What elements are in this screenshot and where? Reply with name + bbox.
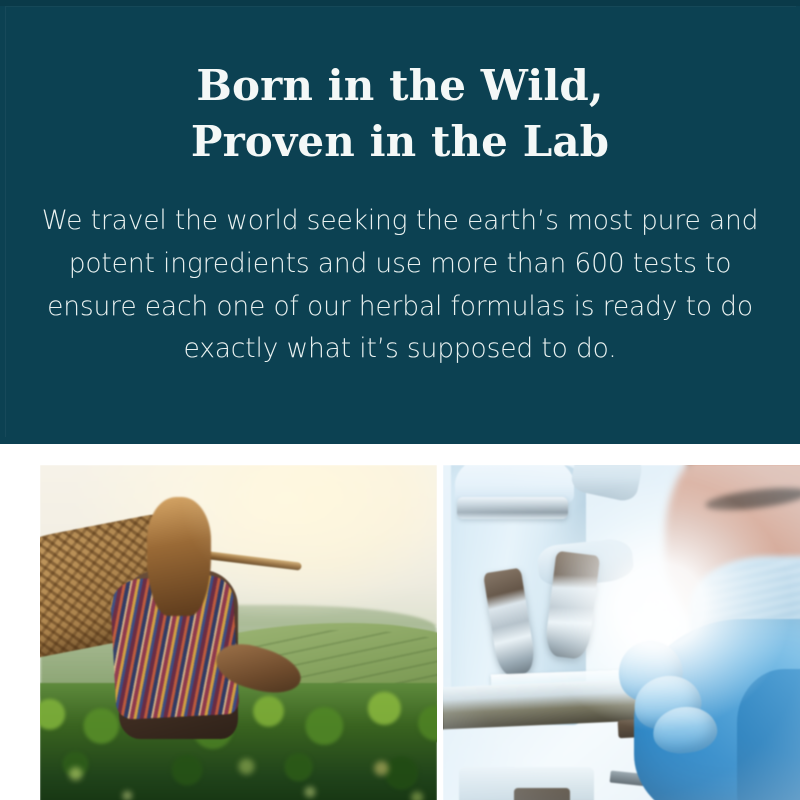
body-line-4: exactly what it’s supposed to do.	[39, 328, 761, 371]
body-line-2: potent ingredients and use more than 600…	[39, 243, 761, 286]
microscope-base-shadow	[514, 788, 570, 800]
harvester-hair	[147, 497, 211, 616]
foreground-bokeh	[40, 732, 437, 800]
headline-line-1: Born in the Wild,	[50, 58, 750, 114]
brand-promo-poster: Born in the Wild, Proven in the Lab We t…	[0, 0, 800, 800]
hero-description: We travel the world seeking the earth’s …	[39, 200, 761, 372]
tea-harvest-photo: Woman carrying a large wicker basket on …	[40, 465, 437, 800]
microscope-metal-ring	[457, 497, 568, 520]
headline-line-2: Proven in the Lab	[50, 114, 750, 170]
body-line-1: We travel the world seeking the earth’s …	[39, 200, 761, 243]
hero-panel: Born in the Wild, Proven in the Lab We t…	[0, 0, 800, 444]
hero-content: Born in the Wild, Proven in the Lab We t…	[0, 0, 800, 371]
page-title: Born in the Wild, Proven in the Lab	[50, 58, 750, 170]
laboratory-microscope-photo: Scientist wearing a blue face mask and b…	[443, 465, 800, 800]
laboratory-scene	[443, 465, 800, 800]
body-line-3: ensure each one of our herbal formulas i…	[39, 286, 761, 329]
photo-strip: Woman carrying a large wicker basket on …	[0, 449, 800, 800]
tea-harvest-scene	[40, 465, 437, 800]
